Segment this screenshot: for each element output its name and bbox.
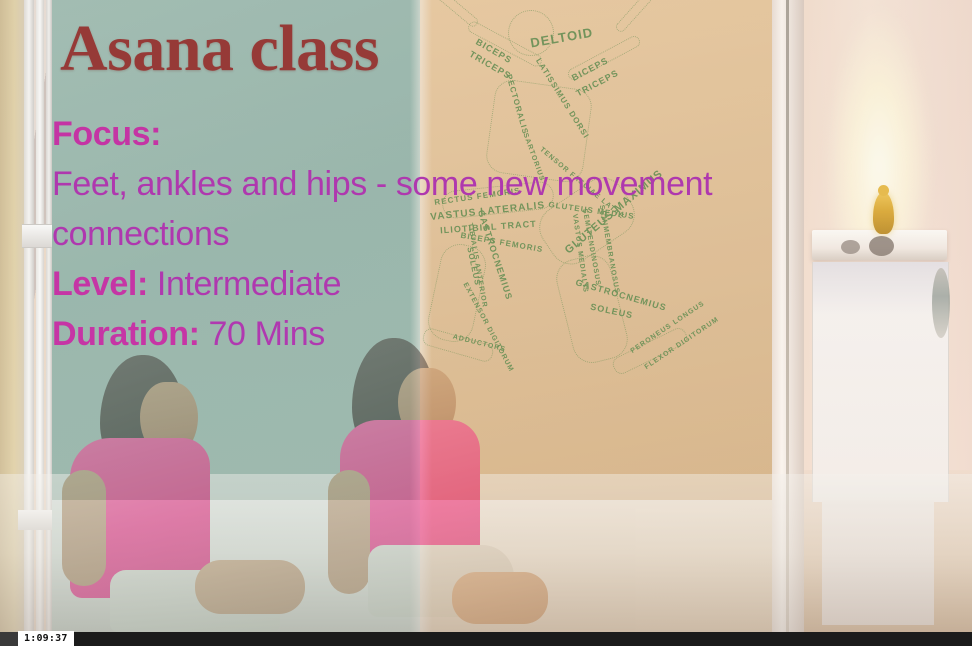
student-left-arm: [62, 470, 106, 586]
student-right-leg: [452, 572, 548, 624]
student-right-arm: [328, 470, 370, 594]
video-timestamp: 1:09:37: [18, 631, 74, 646]
student-left-leg: [195, 560, 305, 614]
video-player[interactable]: DELTOIDBICEPSTRICEPSBICEPSTRICEPSPECTORA…: [0, 0, 972, 646]
video-crossfade-layer: [0, 0, 972, 646]
video-progress-bar[interactable]: [0, 632, 972, 646]
video-progress-fill[interactable]: [0, 632, 19, 646]
